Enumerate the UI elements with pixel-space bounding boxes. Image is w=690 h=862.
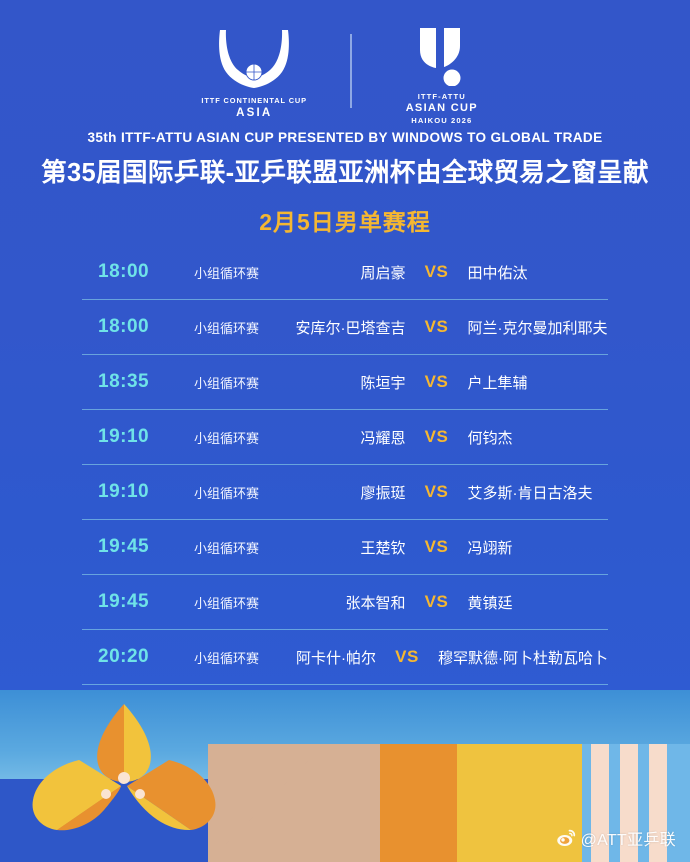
schedule-row: 20:20 小组循环赛 阿卡什·帕尔 VS 穆罕默德·阿卜杜勒瓦哈卜 (82, 630, 608, 685)
weibo-handle: @ATT亚乒联 (581, 826, 676, 850)
asian-cup-line3: HAIKOU 2026 (411, 116, 472, 125)
match-pairing: 阿卡什·帕尔 VS 穆罕默德·阿卜杜勒瓦哈卜 (265, 647, 608, 668)
match-time: 19:45 (82, 591, 194, 613)
player-two: 穆罕默德·阿卜杜勒瓦哈卜 (428, 647, 608, 668)
match-time: 19:10 (82, 481, 194, 503)
logo-divider (350, 34, 352, 108)
asian-cup-logo: ITTF-ATTU ASIAN CUP HAIKOU 2026 (386, 28, 498, 125)
asian-cup-line2: ASIAN CUP (406, 102, 478, 114)
player-one: 王楚钦 (265, 537, 416, 558)
player-one: 阿卡什·帕尔 (265, 647, 386, 668)
match-stage: 小组循环赛 (194, 648, 259, 667)
title-english: 35th ITTF-ATTU ASIAN CUP PRESENTED BY WI… (0, 130, 690, 145)
poster-root: ITTF CONTINENTAL CUP ASIA ITTF-ATTU ASIA… (0, 0, 690, 862)
schedule-row: 19:10 小组循环赛 冯耀恩 VS 何钧杰 (82, 410, 608, 465)
vs-label: VS (416, 372, 458, 392)
match-stage: 小组循环赛 (194, 263, 259, 282)
match-pairing: 冯耀恩 VS 何钧杰 (265, 427, 608, 448)
weibo-watermark: @ATT亚乒联 (556, 826, 676, 850)
schedule-row: 18:35 小组循环赛 陈垣宇 VS 户上隼辅 (82, 355, 608, 410)
ittf-logo-line1: ITTF CONTINENTAL CUP (201, 96, 307, 105)
match-time: 18:00 (82, 261, 194, 283)
schedule-row: 18:00 小组循环赛 安库尔·巴塔查吉 VS 阿兰·克尔曼加利耶夫 (82, 300, 608, 355)
match-pairing: 周启豪 VS 田中佑汰 (265, 262, 608, 283)
match-time: 18:00 (82, 316, 194, 338)
flower-center-dot (118, 772, 130, 784)
match-time: 20:20 (82, 646, 194, 668)
match-pairing: 廖振珽 VS 艾多斯·肯日古洛夫 (265, 482, 608, 503)
player-one: 安库尔·巴塔查吉 (265, 317, 416, 338)
match-pairing: 张本智和 VS 黄镇廷 (265, 592, 608, 613)
player-two: 黄镇廷 (458, 592, 609, 613)
match-time: 19:45 (82, 536, 194, 558)
player-one: 冯耀恩 (265, 427, 416, 448)
flower-center-dot (135, 789, 145, 799)
vs-label: VS (416, 262, 458, 282)
match-stage: 小组循环赛 (194, 483, 259, 502)
vs-label: VS (386, 647, 428, 667)
match-stage: 小组循环赛 (194, 538, 259, 557)
schedule-subtitle: 2月5日男单赛程 (0, 203, 690, 237)
schedule-row: 19:45 小组循环赛 王楚钦 VS 冯翊新 (82, 520, 608, 575)
player-two: 何钧杰 (458, 427, 609, 448)
vs-label: VS (416, 537, 458, 557)
exclamation-mark-icon (414, 28, 470, 86)
crescent-bowl-icon (212, 28, 296, 90)
asian-cup-line1: ITTF-ATTU (418, 92, 466, 101)
flower-center-dot (101, 789, 111, 799)
ittf-continental-cup-logo: ITTF CONTINENTAL CUP ASIA (192, 28, 316, 119)
player-two: 田中佑汰 (458, 262, 609, 283)
schedule-row: 19:10 小组循环赛 廖振珽 VS 艾多斯·肯日古洛夫 (82, 465, 608, 520)
player-one: 廖振珽 (265, 482, 416, 503)
player-one: 陈垣宇 (265, 372, 416, 393)
weibo-icon (556, 828, 576, 848)
title-chinese: 第35届国际乒联-亚乒联盟亚洲杯由全球贸易之窗呈献 (0, 152, 690, 189)
vs-label: VS (416, 482, 458, 502)
player-two: 艾多斯·肯日古洛夫 (458, 482, 609, 503)
player-one: 张本智和 (265, 592, 416, 613)
orange-block-shape (380, 744, 457, 862)
player-two: 冯翊新 (458, 537, 609, 558)
schedule-row: 19:45 小组循环赛 张本智和 VS 黄镇廷 (82, 575, 608, 630)
match-stage: 小组循环赛 (194, 318, 259, 337)
trillium-flower-icon (33, 704, 216, 830)
match-time: 19:10 (82, 426, 194, 448)
match-stage: 小组循环赛 (194, 428, 259, 447)
vs-label: VS (416, 427, 458, 447)
match-stage: 小组循环赛 (194, 373, 259, 392)
ittf-logo-line2: ASIA (236, 107, 272, 119)
match-time: 18:35 (82, 371, 194, 393)
player-two: 阿兰·克尔曼加利耶夫 (458, 317, 609, 338)
schedule-row: 18:00 小组循环赛 周启豪 VS 田中佑汰 (82, 245, 608, 300)
player-one: 周启豪 (265, 262, 416, 283)
player-two: 户上隼辅 (458, 372, 609, 393)
match-pairing: 王楚钦 VS 冯翊新 (265, 537, 608, 558)
vs-label: VS (416, 592, 458, 612)
match-pairing: 陈垣宇 VS 户上隼辅 (265, 372, 608, 393)
match-pairing: 安库尔·巴塔查吉 VS 阿兰·克尔曼加利耶夫 (265, 317, 608, 338)
match-stage: 小组循环赛 (194, 593, 259, 612)
schedule-list: 18:00 小组循环赛 周启豪 VS 田中佑汰 18:00 小组循环赛 安库尔·… (82, 245, 608, 685)
vs-label: VS (416, 317, 458, 337)
logo-row: ITTF CONTINENTAL CUP ASIA ITTF-ATTU ASIA… (0, 28, 690, 128)
